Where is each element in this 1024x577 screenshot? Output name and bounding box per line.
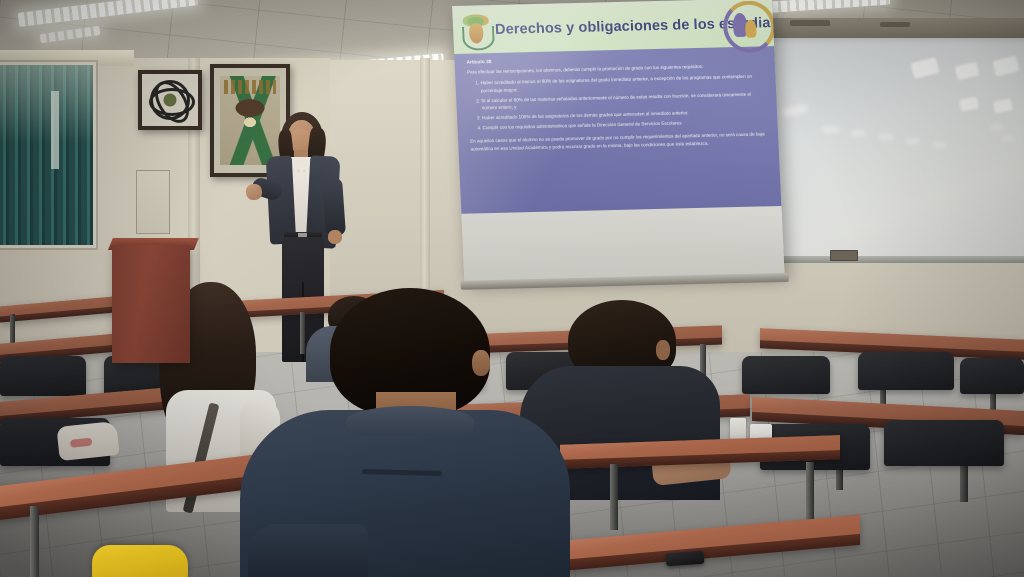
whiteboard-eraser xyxy=(830,250,858,261)
window xyxy=(0,62,96,248)
classroom-photo: Derechos y obligaciones de los estudiant… xyxy=(0,0,1024,577)
escudo-banner-icon xyxy=(224,80,276,94)
presenter-arm-right xyxy=(322,177,346,236)
student-front-collar xyxy=(346,406,474,436)
slide-requirements-list: Haber acreditado al menos el 80% de las … xyxy=(467,73,767,132)
institutional-seal-icon xyxy=(722,0,768,45)
slide-closing-text: En aquellos casos que el alumno no se pu… xyxy=(470,131,769,153)
chair[interactable] xyxy=(0,356,86,396)
window-daylight xyxy=(0,65,93,143)
chair[interactable] xyxy=(742,356,830,394)
escudo-nacional-icon xyxy=(460,10,492,51)
blind-gap xyxy=(51,91,59,169)
soffit-patch xyxy=(880,22,910,27)
yellow-bag xyxy=(92,545,188,577)
student-front-ear xyxy=(472,350,490,376)
chair[interactable] xyxy=(858,352,954,390)
podium xyxy=(112,245,190,363)
wall-panel xyxy=(136,170,170,234)
presenter-necklace xyxy=(294,164,309,173)
presenter-hand-right xyxy=(328,230,342,244)
screen-blank-area xyxy=(461,206,784,282)
student-man-navy-shirt xyxy=(258,288,558,577)
chair[interactable] xyxy=(884,420,1004,466)
projection-screen: Derechos y obligaciones de los estudiant… xyxy=(452,0,784,282)
presentation-slide: Derechos y obligaciones de los estudiant… xyxy=(452,0,781,214)
soffit-patch xyxy=(790,20,830,26)
framed-ipn-logo xyxy=(138,70,202,130)
desk-leg xyxy=(610,464,618,530)
desk-leg xyxy=(30,506,39,577)
smartphone[interactable] xyxy=(666,551,705,567)
white-cloth-item xyxy=(56,421,119,461)
slide-body: Artículo 38 Para efectuar las reinscripc… xyxy=(466,52,771,207)
chair[interactable] xyxy=(960,358,1024,394)
whiteboard-tray xyxy=(766,256,1024,263)
student-right-ear xyxy=(656,340,670,360)
student-front-arm xyxy=(248,524,368,577)
ipn-emblem-core-icon xyxy=(164,94,177,107)
whiteboard xyxy=(768,38,1024,260)
